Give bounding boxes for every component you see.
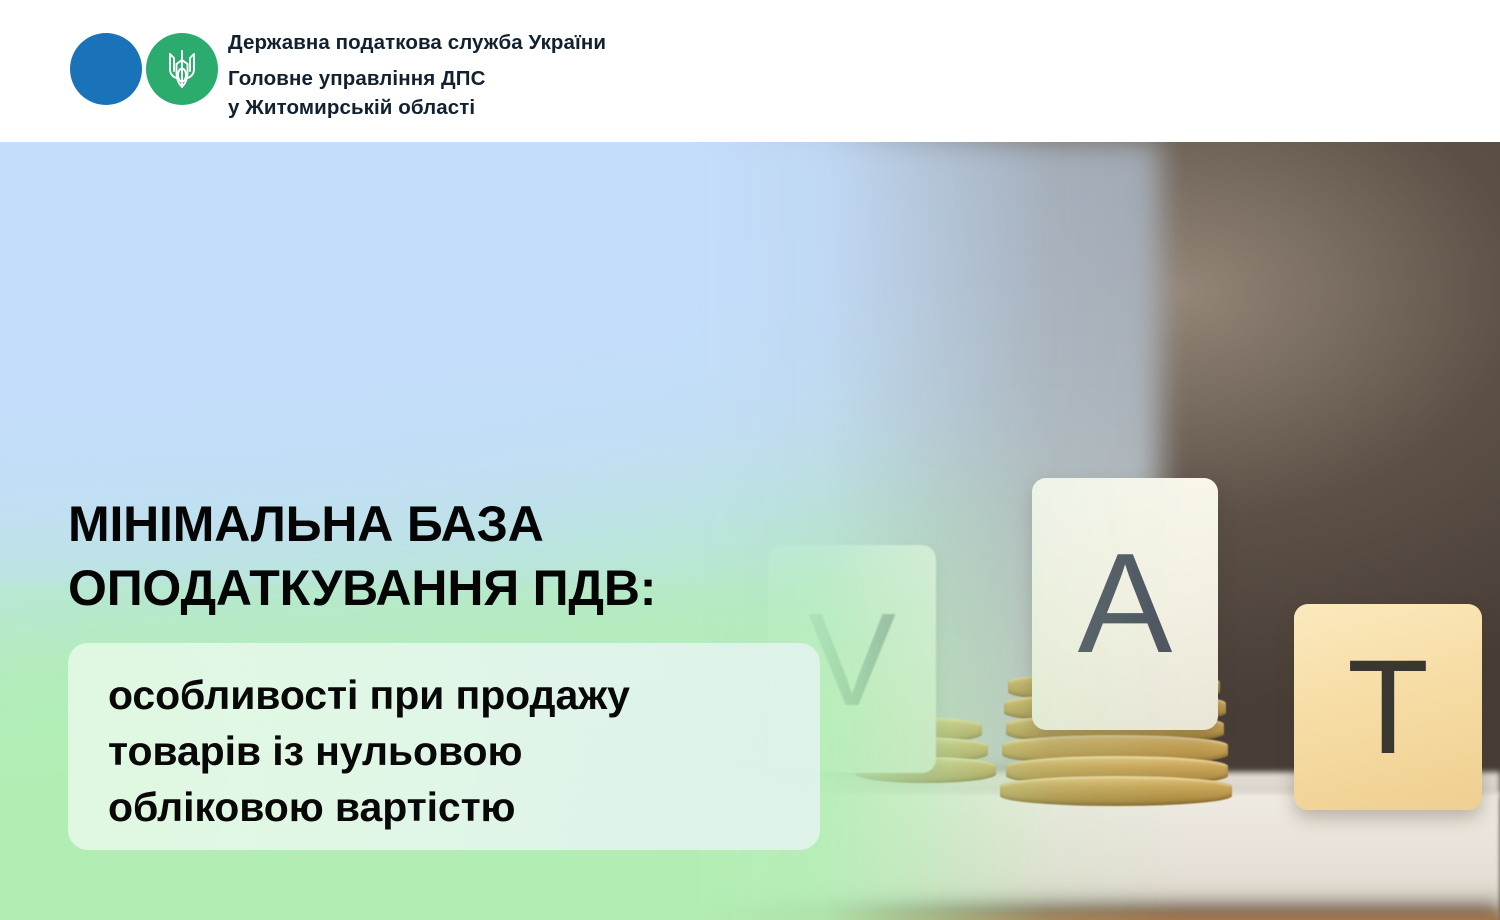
logo-green-circle-icon xyxy=(146,33,218,105)
page-title: МІНІМАЛЬНА БАЗА ОПОДАТКУВАННЯ ПДВ: xyxy=(68,492,868,620)
subtitle-line-1: особливості при продажу xyxy=(108,667,786,723)
headline-line-2: ОПОДАТКУВАННЯ ПДВ: xyxy=(68,556,868,620)
org-name-line-1: Державна податкова служба України xyxy=(228,30,606,56)
subtitle-text: особливості при продажу товарів із нульо… xyxy=(108,667,786,835)
org-name-line-3: у Житомирській області xyxy=(228,93,606,122)
subtitle-line-3: обліковою вартістю xyxy=(108,779,786,835)
poster-banner: Державна податкова служба України Головн… xyxy=(0,0,1500,920)
org-name-line-2: Головне управління ДПС xyxy=(228,64,606,93)
subtitle-line-2: товарів із нульовою xyxy=(108,723,786,779)
subtitle-callout-box: особливості при продажу товарів із нульо… xyxy=(68,643,820,850)
headline-line-1: МІНІМАЛЬНА БАЗА xyxy=(68,492,868,556)
dps-logo xyxy=(70,33,218,105)
logo-blue-circle-icon xyxy=(70,33,142,105)
header-org-text: Державна податкова служба України Головн… xyxy=(228,30,606,122)
ukraine-trident-icon xyxy=(165,47,199,91)
banner-area: V A T МІНІМАЛЬНА БАЗА ОПОДАТКУВАННЯ ПДВ:… xyxy=(0,142,1500,920)
page-header: Державна податкова служба України Головн… xyxy=(0,0,1500,142)
